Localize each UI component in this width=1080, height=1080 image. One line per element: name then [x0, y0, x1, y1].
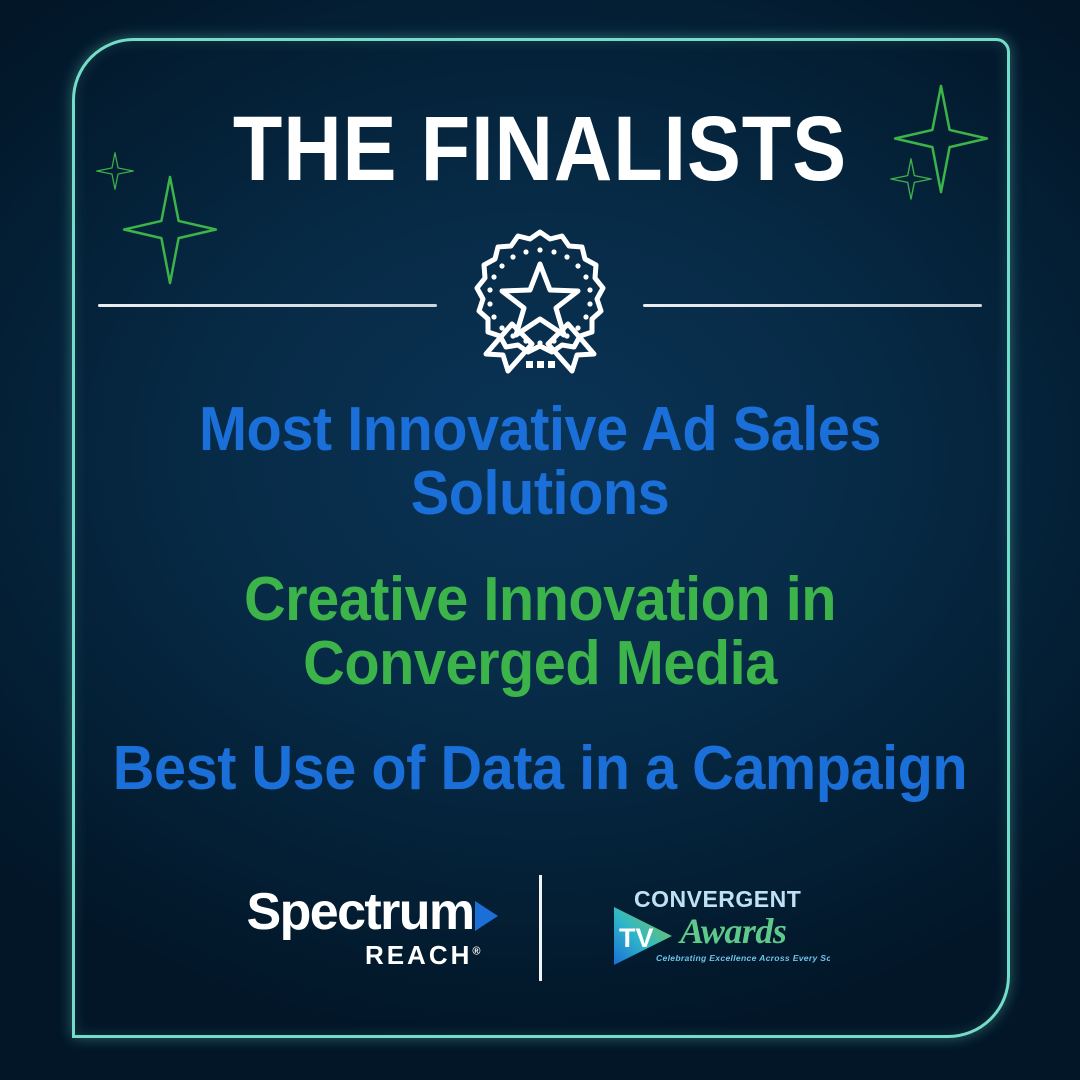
convergent-tv-awards-logo-slot: CONVERGENT TV Awards Celebrating Excelle… [542, 885, 918, 971]
badge-divider-row [98, 228, 982, 380]
registered-mark: ® [472, 945, 480, 957]
finalists-poster: THE FINALISTS [0, 0, 1080, 1080]
spectrum-reach-logo: Spectrum REACH® [247, 886, 483, 971]
category-item-3: Best Use of Data in a Campaign [103, 737, 977, 801]
spectrum-reach-subtext-row: REACH® [247, 940, 483, 971]
play-triangle-icon [475, 901, 498, 931]
page-title: THE FINALISTS [0, 103, 1080, 195]
award-rosette-icon [465, 228, 615, 380]
tv-wordmark: TV [619, 923, 654, 953]
spectrum-wordmark: Spectrum [247, 886, 474, 938]
category-item-1: Most Innovative Ad Sales Solutions [103, 398, 977, 526]
spectrum-reach-subtext: REACH [365, 940, 472, 970]
convergent-tv-awards-logo: CONVERGENT TV Awards Celebrating Excelle… [598, 885, 830, 971]
spectrum-reach-logo-slot: Spectrum REACH® [163, 886, 539, 971]
spectrum-wordmark-row: Spectrum [247, 886, 483, 938]
awards-script-wordmark: Awards [678, 911, 786, 951]
divider-rule-left [98, 304, 437, 307]
page-title-text: THE FINALISTS [233, 103, 847, 195]
convergent-wordmark: CONVERGENT [634, 886, 801, 912]
footer-logo-row: Spectrum REACH® [0, 868, 1080, 988]
category-item-2: Creative Innovation in Converged Media [103, 568, 977, 696]
category-list: Most Innovative Ad Sales Solutions Creat… [70, 398, 1010, 801]
divider-rule-right [643, 304, 982, 307]
convergent-tagline: Celebrating Excellence Across Every Scre… [656, 953, 830, 963]
